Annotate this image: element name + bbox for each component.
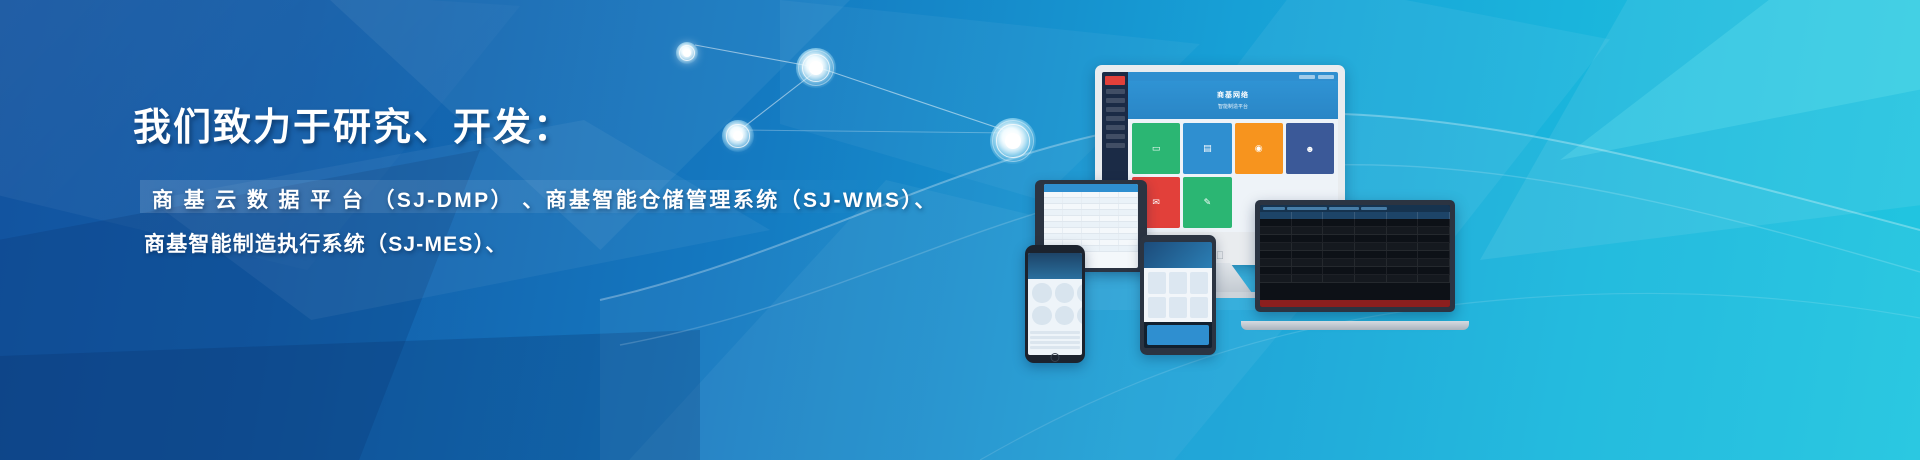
dashboard-tile[interactable]: ▤ xyxy=(1183,123,1231,174)
tablet-promo-banner[interactable] xyxy=(1147,325,1209,345)
app-icon[interactable] xyxy=(1190,297,1208,319)
app-icon[interactable] xyxy=(1055,306,1075,326)
banner-copy: 我们致力于研究、开发： 商 基 云 数 据 平 台 （SJ-DMP） 、商基智能… xyxy=(0,0,980,460)
header-cell xyxy=(1355,212,1387,219)
table-row[interactable] xyxy=(1260,267,1450,275)
titlebar-chip xyxy=(1329,207,1359,210)
app-icon[interactable] xyxy=(1148,297,1166,319)
product-line-2: 商基智能制造执行系统（SJ-MES）、 xyxy=(144,228,508,258)
app-icon[interactable] xyxy=(1077,306,1082,326)
table-row[interactable] xyxy=(1260,227,1450,235)
dashboard-tile[interactable]: ✎ xyxy=(1183,177,1231,228)
table-row[interactable] xyxy=(1260,243,1450,251)
dashboard-hero: 商基网络 智能制造平台 xyxy=(1128,81,1338,119)
phone-mockup xyxy=(1025,245,1085,363)
header-cell xyxy=(1418,212,1450,219)
table-row[interactable] xyxy=(1260,235,1450,243)
phone-icon-grid xyxy=(1028,279,1082,329)
header-cell xyxy=(1292,212,1324,219)
titlebar-chip xyxy=(1361,207,1387,210)
dashboard-tile[interactable]: ◉ xyxy=(1235,123,1283,174)
header-cell xyxy=(1387,212,1419,219)
apple-logo-icon:  xyxy=(1216,251,1225,261)
dashboard-hero-subtitle: 智能制造平台 xyxy=(1218,103,1248,110)
sidebar-item[interactable] xyxy=(1106,125,1125,130)
sidebar-item[interactable] xyxy=(1106,143,1125,148)
table-row[interactable] xyxy=(1260,275,1450,283)
phone-list xyxy=(1028,329,1082,355)
dashboard-topbar xyxy=(1128,72,1338,81)
dashboard-tile[interactable]: ▭ xyxy=(1132,123,1180,174)
tablet-portrait-body xyxy=(1140,235,1216,355)
sidebar-item[interactable] xyxy=(1106,98,1125,103)
sidebar-item[interactable] xyxy=(1106,107,1125,112)
table-row[interactable] xyxy=(1260,259,1450,267)
brand-logo-icon xyxy=(1105,76,1125,85)
app-icon[interactable] xyxy=(1169,272,1187,294)
product-line-1: 商 基 云 数 据 平 台 （SJ-DMP） 、商基智能仓储管理系统（SJ-WM… xyxy=(152,184,938,214)
list-item[interactable] xyxy=(1030,331,1080,334)
list-item[interactable] xyxy=(1030,341,1080,344)
sidebar-item[interactable] xyxy=(1106,116,1125,121)
laptop-status-bar xyxy=(1260,300,1450,307)
laptop-table-header xyxy=(1260,212,1450,219)
laptop-titlebar xyxy=(1260,205,1450,212)
app-icon[interactable] xyxy=(1077,283,1082,303)
titlebar-chip xyxy=(1263,207,1285,210)
list-item[interactable] xyxy=(1030,336,1080,339)
sidebar-item[interactable] xyxy=(1106,134,1125,139)
laptop-lid xyxy=(1255,200,1455,312)
device-mockup-cluster: 商基网络 智能制造平台 ▭ ▤ ◉ ☻ ✉ ✎ xyxy=(1000,40,1520,360)
laptop-screen xyxy=(1260,205,1450,307)
tablet-icon-grid xyxy=(1144,268,1212,322)
search-icon[interactable] xyxy=(1299,75,1315,79)
tablet-portrait-mockup xyxy=(1140,235,1216,355)
header-cell xyxy=(1260,212,1292,219)
laptop-base xyxy=(1241,321,1469,330)
laptop-mockup xyxy=(1255,200,1455,330)
app-icon[interactable] xyxy=(1055,283,1075,303)
app-icon[interactable] xyxy=(1032,283,1052,303)
tablet-portrait-screen xyxy=(1144,242,1212,348)
dashboard-hero-title: 商基网络 xyxy=(1217,90,1249,100)
tablet-hero-banner xyxy=(1144,242,1212,268)
user-avatar[interactable] xyxy=(1318,75,1334,79)
phone-screen xyxy=(1028,253,1082,355)
home-button[interactable] xyxy=(1051,353,1060,362)
tablet-titlebar xyxy=(1044,184,1138,192)
app-icon[interactable] xyxy=(1032,306,1052,326)
table-row[interactable] xyxy=(1260,219,1450,227)
app-icon[interactable] xyxy=(1148,272,1166,294)
phone-hero-banner xyxy=(1028,253,1082,279)
phone-body xyxy=(1025,245,1085,363)
list-item[interactable] xyxy=(1030,346,1080,349)
hero-banner: 我们致力于研究、开发： 商 基 云 数 据 平 台 （SJ-DMP） 、商基智能… xyxy=(0,0,1920,460)
table-row[interactable] xyxy=(1260,251,1450,259)
app-icon[interactable] xyxy=(1190,272,1208,294)
header-cell xyxy=(1323,212,1355,219)
sidebar-item[interactable] xyxy=(1106,89,1125,94)
dashboard-tile[interactable]: ☻ xyxy=(1286,123,1334,174)
page-title: 我们致力于研究、开发： xyxy=(133,96,573,151)
app-icon[interactable] xyxy=(1169,297,1187,319)
titlebar-chip xyxy=(1287,207,1327,210)
